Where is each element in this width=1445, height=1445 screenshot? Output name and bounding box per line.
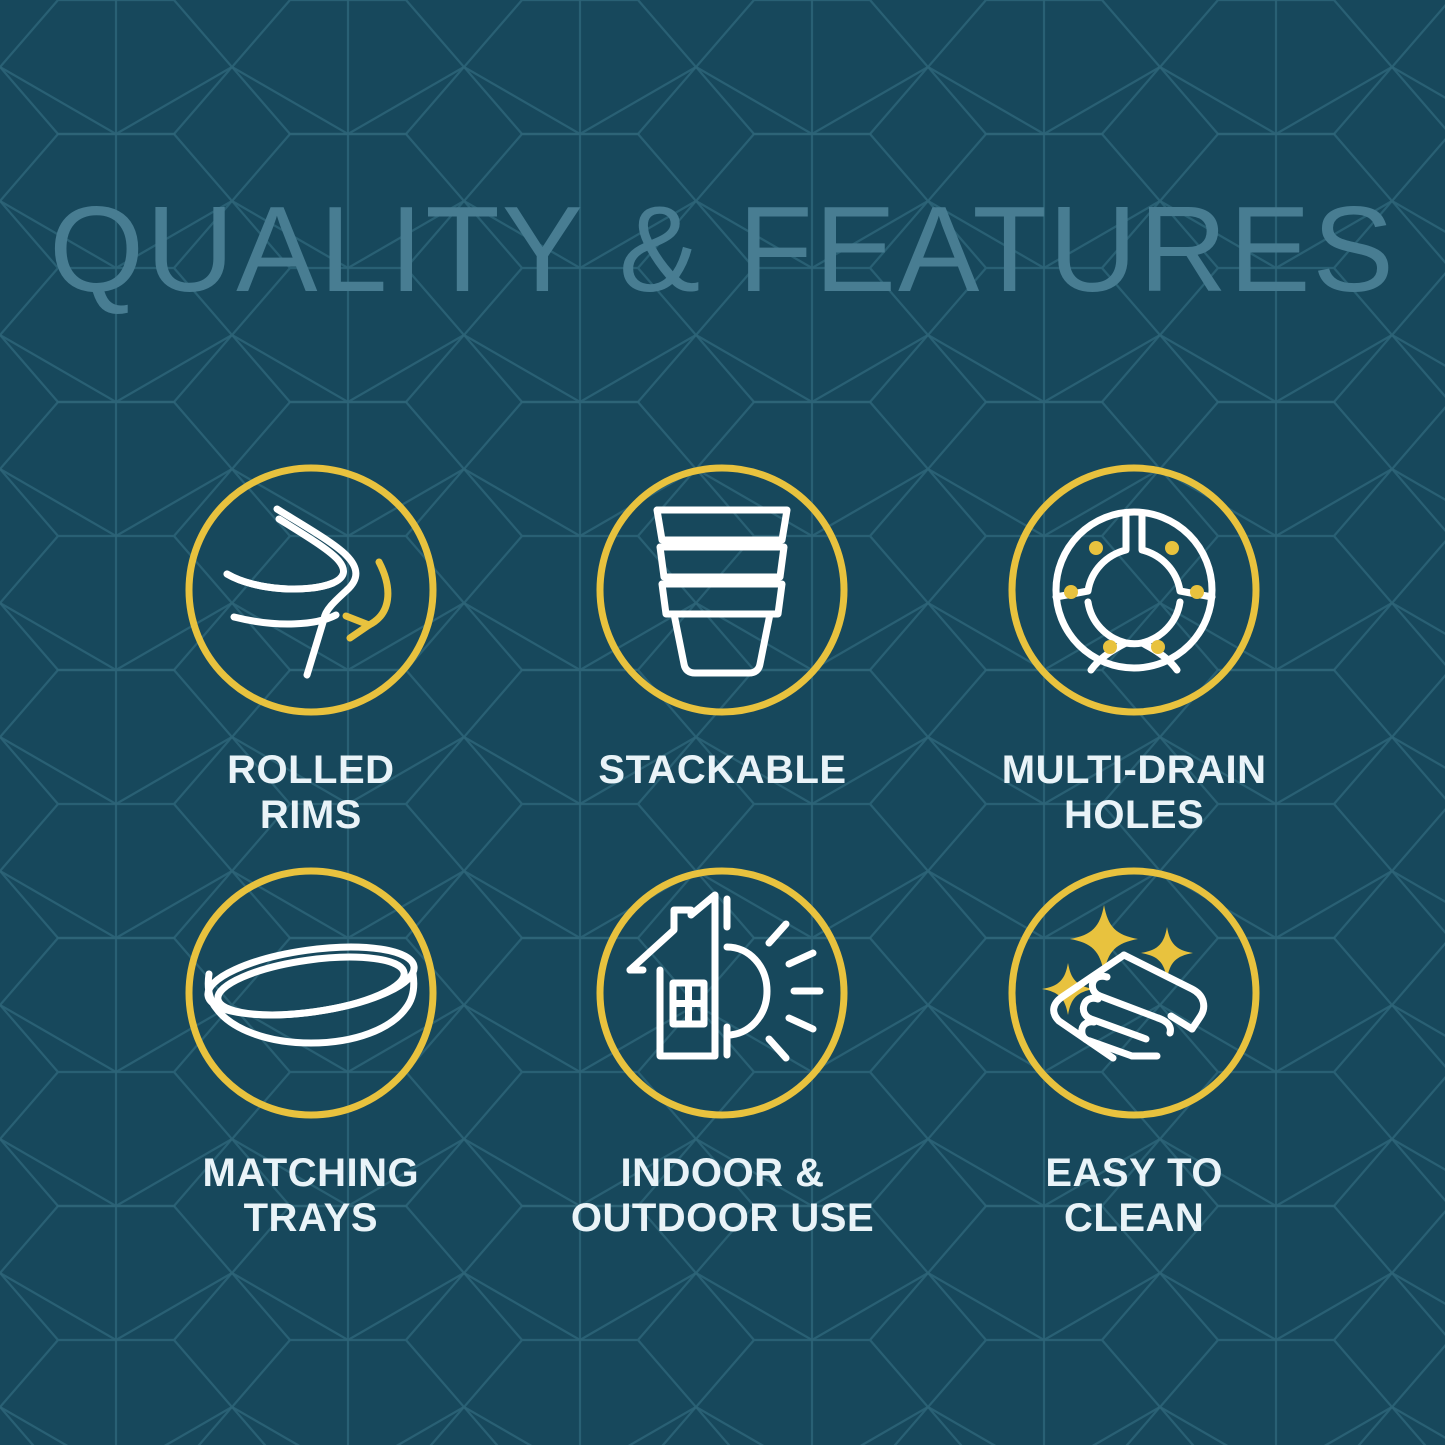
feature-label: STACKABLE xyxy=(598,748,846,793)
feature-label-line1: INDOOR & xyxy=(620,1151,824,1195)
feature-label: MATCHING TRAYS xyxy=(203,1151,420,1241)
feature-label-line1: MATCHING xyxy=(203,1151,420,1195)
feature-badge xyxy=(594,865,850,1121)
feature-label: INDOOR & OUTDOOR USE xyxy=(571,1151,874,1241)
feature-badge xyxy=(1006,462,1262,718)
stacked-pots-icon xyxy=(594,462,850,718)
feature-label-line1: ROLLED xyxy=(227,748,394,792)
page-title: QUALITY & FEATURES xyxy=(0,188,1445,310)
feature-item-indoor-outdoor: INDOOR & OUTDOOR USE xyxy=(517,865,929,1268)
feature-item-multi-drain-holes: MULTI-DRAIN HOLES xyxy=(928,462,1340,865)
feature-label-line2: OUTDOOR USE xyxy=(571,1196,874,1241)
feature-label: ROLLED RIMS xyxy=(227,748,394,838)
rolled-rim-icon xyxy=(183,462,439,718)
feature-badge xyxy=(594,462,850,718)
feature-badge xyxy=(183,865,439,1121)
feature-item-matching-trays: MATCHING TRAYS xyxy=(105,865,517,1268)
feature-item-rolled-rims: ROLLED RIMS xyxy=(105,462,517,865)
oval-tray-icon xyxy=(183,865,439,1121)
feature-grid: ROLLED RIMS STACKABLE xyxy=(105,462,1340,1268)
feature-badge xyxy=(1006,865,1262,1121)
feature-label: EASY TO CLEAN xyxy=(1045,1151,1223,1241)
feature-label: MULTI-DRAIN HOLES xyxy=(1002,748,1267,838)
feature-label-line1: EASY TO xyxy=(1045,1151,1223,1195)
feature-label-line2: TRAYS xyxy=(203,1196,420,1241)
feature-label-line2: HOLES xyxy=(1002,793,1267,838)
feature-label-line1: STACKABLE xyxy=(598,748,846,792)
feature-label-line2: RIMS xyxy=(227,793,394,838)
feature-item-easy-to-clean: EASY TO CLEAN xyxy=(928,865,1340,1268)
house-sun-icon xyxy=(594,865,850,1121)
feature-item-stackable: STACKABLE xyxy=(517,462,929,865)
feature-label-line1: MULTI-DRAIN xyxy=(1002,748,1267,792)
hand-wipe-sparkle-icon xyxy=(1006,865,1262,1121)
feature-badge xyxy=(183,462,439,718)
feature-label-line2: CLEAN xyxy=(1045,1196,1223,1241)
drain-holes-icon xyxy=(1006,462,1262,718)
infographic-panel: QUALITY & FEATURES xyxy=(0,0,1445,1445)
